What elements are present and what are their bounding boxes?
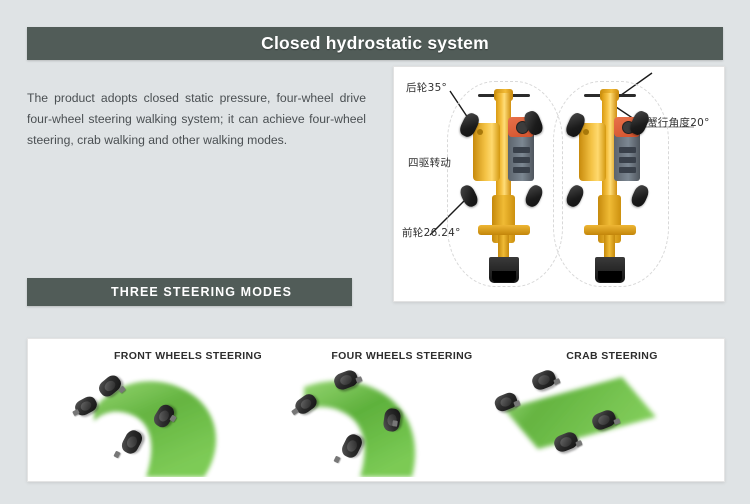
label-rear-wheel-angle: 后轮35° — [406, 80, 447, 95]
title-banner: Closed hydrostatic system — [27, 27, 723, 60]
mode-diagram-four-wheels — [286, 365, 518, 477]
page-root: Closed hydrostatic system The product ad… — [0, 0, 750, 504]
steering-mode-crab: CRAB STEERING — [496, 339, 725, 481]
steering-photo-panel: 后轮35° 四驱转动 前轮26.24° 蟹行角度20° — [393, 66, 725, 302]
intro-paragraph: The product adopts closed static pressur… — [27, 88, 366, 151]
machine-bucket-lip — [598, 271, 622, 282]
machine-vent — [619, 167, 636, 173]
machine-vent — [619, 157, 636, 163]
machine-vent — [619, 147, 636, 153]
machine-four-wheel-steer — [456, 85, 552, 281]
machine-crab-steer — [562, 85, 658, 281]
machine-fork — [478, 225, 530, 235]
steering-modes-panel: FRONT WHEELS STEERING — [27, 338, 725, 482]
modes-banner-label: THREE STEERING MODES — [87, 285, 292, 299]
mode-diagram-front-wheels — [72, 365, 304, 477]
three-steering-modes-banner: THREE STEERING MODES — [27, 278, 352, 306]
mode-title-front-wheels: FRONT WHEELS STEERING — [72, 350, 304, 362]
machine-bucket-lip — [492, 271, 516, 282]
steering-mode-front-wheels: FRONT WHEELS STEERING — [72, 339, 304, 481]
machine-body-dot — [477, 129, 483, 135]
four-wheels-path — [286, 365, 518, 477]
page-title: Closed hydrostatic system — [261, 33, 489, 54]
machine-body-dot — [583, 129, 589, 135]
steering-mode-four-wheels: FOUR WHEELS STEERING — [286, 339, 518, 481]
mode-title-four-wheels: FOUR WHEELS STEERING — [286, 350, 518, 362]
label-crab-walking-angle: 蟹行角度20° — [647, 115, 710, 130]
machine-fork — [584, 225, 636, 235]
mode-diagram-crab — [496, 365, 725, 477]
machine-vent — [513, 157, 530, 163]
label-front-wheel-angle: 前轮26.24° — [402, 225, 461, 240]
mode-title-crab: CRAB STEERING — [496, 350, 725, 362]
machine-vent — [513, 167, 530, 173]
tire-hub — [392, 420, 398, 427]
label-four-wheel-drive: 四驱转动 — [408, 155, 451, 170]
machine-vent — [513, 147, 530, 153]
